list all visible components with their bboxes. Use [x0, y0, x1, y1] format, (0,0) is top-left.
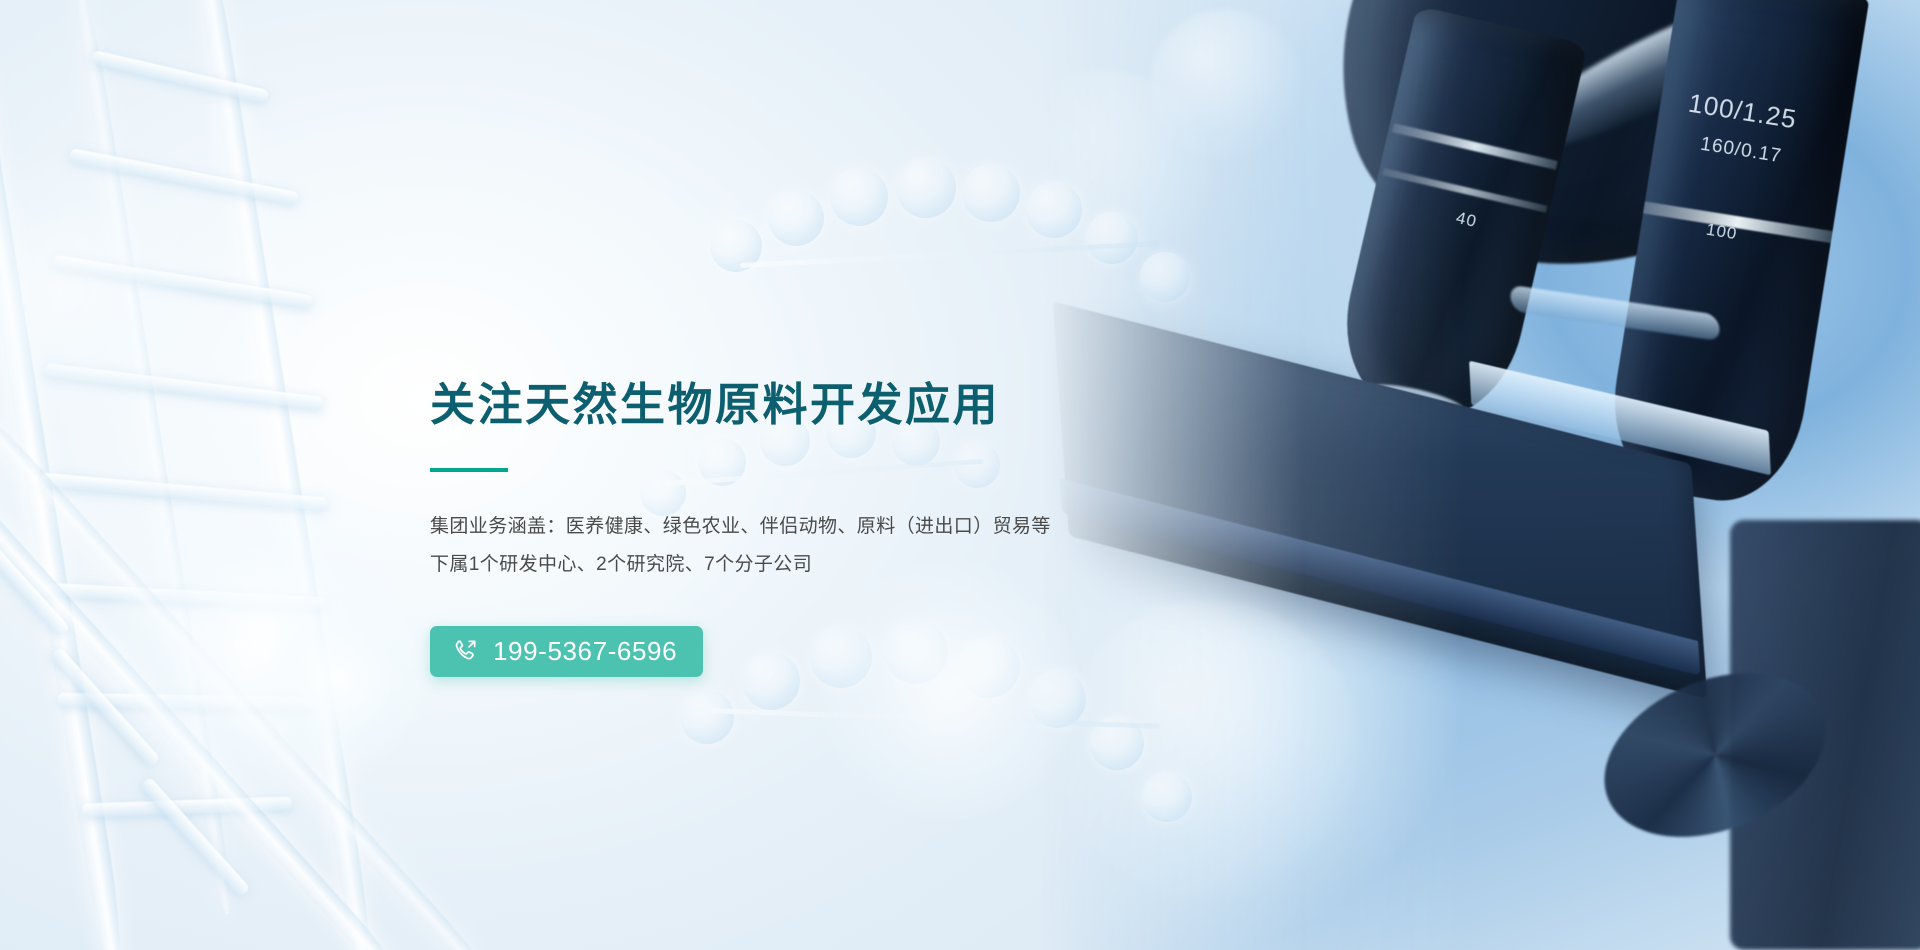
hero-content: 关注天然生物原料开发应用 集团业务涵盖：医养健康、绿色农业、伴侣动物、原料（进出…	[430, 380, 1190, 677]
description-line-2: 下属1个研发中心、2个研究院、7个分子公司	[430, 546, 1190, 584]
phone-number-label: 199-5367-6596	[493, 638, 677, 664]
title-underline-rule	[430, 468, 508, 472]
bokeh-light	[1150, 10, 1300, 160]
description-line-1: 集团业务涵盖：医养健康、绿色农业、伴侣动物、原料（进出口）贸易等	[430, 508, 1190, 546]
page-title: 关注天然生物原料开发应用	[430, 380, 1190, 430]
phone-cta-button[interactable]: 199-5367-6596	[430, 626, 703, 677]
bokeh-light	[250, 590, 430, 770]
hero-description: 集团业务涵盖：医养健康、绿色农业、伴侣动物、原料（进出口）贸易等 下属1个研发中…	[430, 508, 1190, 584]
hero-banner: 100/1.25 160/0.17 100 40	[0, 0, 1920, 950]
phone-outgoing-icon	[452, 638, 479, 665]
